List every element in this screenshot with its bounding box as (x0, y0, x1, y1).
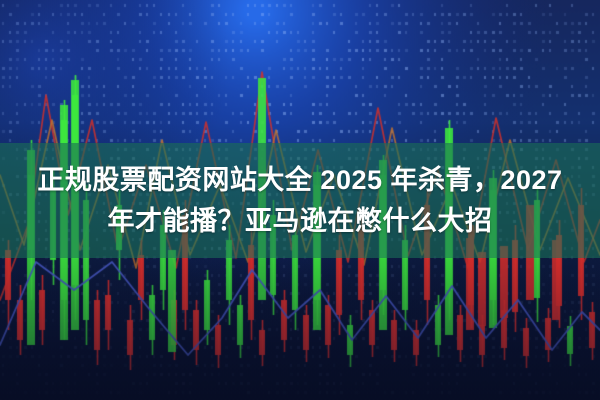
headline-band: 正规股票配资网站大全 2025 年杀青，2027 年才能播？亚马逊在憋什么大招 (0, 143, 600, 258)
banner-image: 正规股票配资网站大全 2025 年杀青，2027 年才能播？亚马逊在憋什么大招 (0, 0, 600, 400)
headline-text: 正规股票配资网站大全 2025 年杀青，2027 年才能播？亚马逊在憋什么大招 (30, 160, 570, 242)
